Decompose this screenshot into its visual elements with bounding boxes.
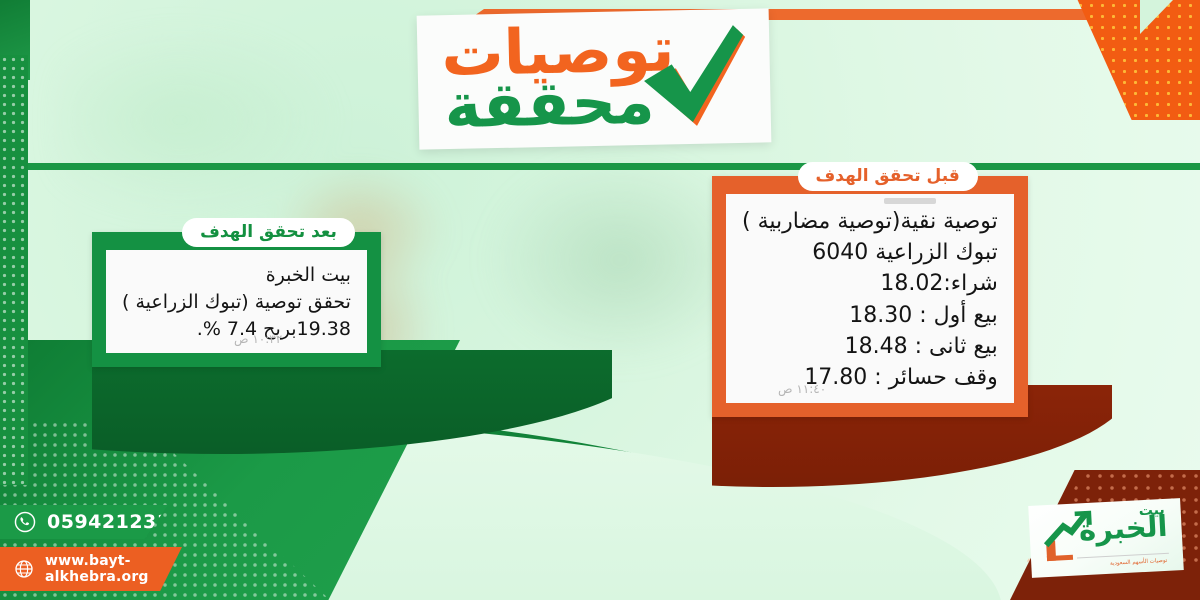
after-card-badge: بعد تحقق الهدف: [182, 218, 355, 247]
globe-icon: [14, 559, 34, 579]
before-target-card: قبل تحقق الهدف توصية نقية(توصية مضاربية …: [712, 176, 1028, 417]
before-card-badge: قبل تحقق الهدف: [798, 162, 978, 191]
redacted-bar: [884, 198, 936, 204]
before-card-line: بيع ثانى : 18.48: [742, 331, 998, 362]
whatsapp-contact-banner[interactable]: 0594212312: [0, 505, 168, 539]
after-target-card: بعد تحقق الهدف بيت الخبرة تحقق توصية (تب…: [92, 232, 381, 367]
footer-brand-logo: بيت الخبرة توصيات الأسهم السعودية: [1028, 498, 1184, 578]
website-contact-banner[interactable]: www.bayt-alkhebra.org: [0, 547, 182, 591]
website-url: www.bayt-alkhebra.org: [45, 553, 149, 585]
poster-canvas: توصيات محققة بعد تحقق الهدف بيت الخبرة ت…: [0, 0, 1200, 600]
brand-tagline: توصيات الأسهم السعودية: [1110, 558, 1168, 567]
logo-word-muhaqqaqa: محققة: [444, 71, 655, 137]
after-card-timestamp: ١٠:٣٢ ص: [234, 332, 282, 346]
before-card-body: توصية نقية(توصية مضاربية ) تبوك الزراعية…: [726, 194, 1014, 403]
after-card-line: بيت الخبرة: [122, 262, 351, 289]
before-card-line: توصية نقية(توصية مضاربية ): [742, 206, 998, 237]
before-card-line: تبوك الزراعية 6040: [742, 237, 998, 268]
brand-word-alkhebra: الخبرة: [1078, 512, 1168, 546]
after-card-body: بيت الخبرة تحقق توصية (تبوك الزراعية ) 1…: [106, 250, 367, 353]
green-check-icon: [633, 21, 755, 139]
whatsapp-icon: [14, 511, 36, 533]
before-card-line: شراء:18.02: [742, 268, 998, 299]
main-logo: توصيات محققة: [417, 8, 772, 149]
left-edge-dot-strip: [0, 55, 28, 485]
before-card-timestamp: ١١:٤٠ ص: [778, 382, 826, 396]
after-card-line: تحقق توصية (تبوك الزراعية ): [122, 289, 351, 316]
horizontal-green-rule: [28, 163, 1200, 170]
before-card-line: بيع أول : 18.30: [742, 300, 998, 331]
